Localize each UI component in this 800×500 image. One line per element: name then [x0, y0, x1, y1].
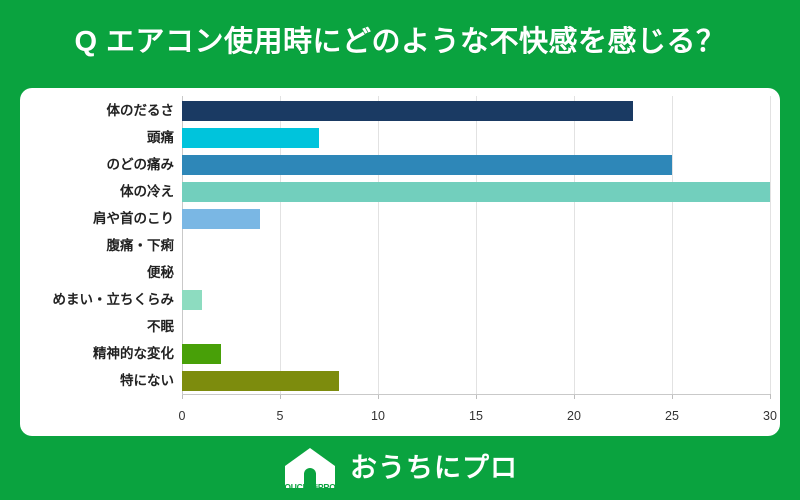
category-label: 精神的な変化: [20, 347, 182, 361]
bar[interactable]: [182, 128, 319, 148]
bar[interactable]: [182, 101, 633, 121]
logo-mark-text: OUCHIniPRO: [282, 483, 338, 492]
x-axis-tick-label: 0: [179, 410, 186, 423]
plot-area: 051015202530: [182, 88, 770, 436]
chart-panel: 体のだるさ頭痛のどの痛み体の冷え肩や首のこり腹痛・下痢便秘めまい・立ちくらみ不眠…: [20, 88, 780, 436]
gridline: [476, 96, 477, 394]
gridline: [378, 96, 379, 394]
bar-chart: 体のだるさ頭痛のどの痛み体の冷え肩や首のこり腹痛・下痢便秘めまい・立ちくらみ不眠…: [20, 88, 780, 436]
x-axis-line: [182, 394, 770, 395]
x-axis-tick-label: 30: [763, 410, 777, 423]
category-label: のどの痛み: [20, 158, 182, 172]
x-axis-tick-label: 25: [665, 410, 679, 423]
tick-mark: [770, 394, 771, 399]
category-label: 体の冷え: [20, 185, 182, 199]
title-bar: Q エアコン使用時にどのような不快感を感じる？: [0, 0, 800, 78]
category-label: 体のだるさ: [20, 104, 182, 118]
bar[interactable]: [182, 371, 339, 391]
gridline: [574, 96, 575, 394]
category-label-column: 体のだるさ頭痛のどの痛み体の冷え肩や首のこり腹痛・下痢便秘めまい・立ちくらみ不眠…: [20, 88, 182, 436]
x-axis-tick-label: 15: [469, 410, 483, 423]
category-label: めまい・立ちくらみ: [20, 293, 182, 307]
bar[interactable]: [182, 209, 260, 229]
bar[interactable]: [182, 290, 202, 310]
category-label: 腹痛・下痢: [20, 239, 182, 253]
page-title: Q エアコン使用時にどのような不快感を感じる？: [74, 18, 725, 60]
category-label: 特にない: [20, 374, 182, 388]
x-axis-tick-label: 5: [277, 410, 284, 423]
logo-wordmark: おうちにプロ: [350, 455, 518, 482]
category-label: 肩や首のこり: [20, 212, 182, 226]
bar[interactable]: [182, 155, 672, 175]
category-label: 頭痛: [20, 131, 182, 145]
category-label: 便秘: [20, 266, 182, 280]
bar[interactable]: [182, 344, 221, 364]
bar[interactable]: [182, 182, 770, 202]
gridline: [672, 96, 673, 394]
x-axis-tick-label: 20: [567, 410, 581, 423]
x-axis-tick-label: 10: [371, 410, 385, 423]
category-label: 不眠: [20, 320, 182, 334]
house-icon: OUCHIniPRO: [282, 446, 338, 490]
gridline: [770, 96, 771, 394]
footer-branding: OUCHIniPRO おうちにプロ: [0, 436, 800, 500]
